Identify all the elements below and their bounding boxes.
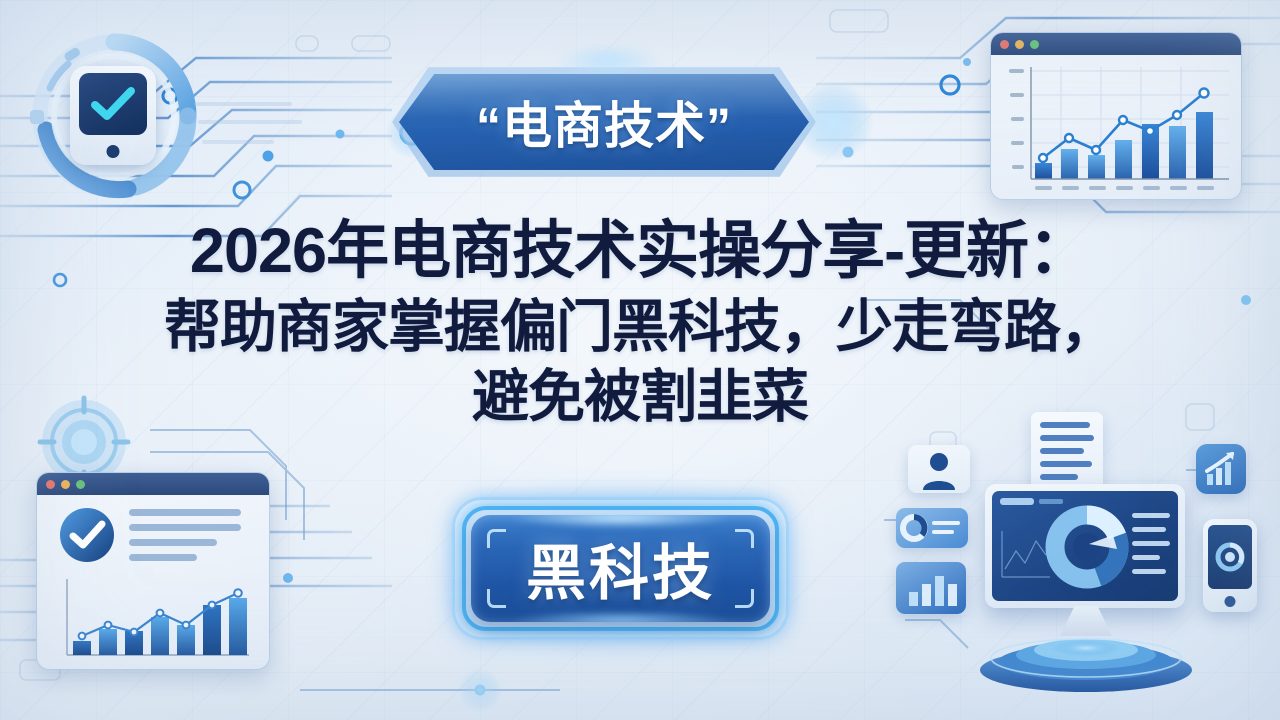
text-line (129, 524, 241, 531)
maximize-dot-icon[interactable] (1030, 40, 1039, 49)
headline-line-2: 帮助商家掌握偏门黑科技，少走弯路， (0, 297, 1280, 357)
pedestal-rings (978, 628, 1194, 692)
analytics-browser-window[interactable] (990, 32, 1242, 200)
doc-line (1040, 461, 1092, 467)
cta-label: 黑科技 (526, 525, 715, 612)
checkmark-circle-icon (57, 505, 117, 565)
corner-bracket-icon (735, 589, 754, 608)
window-titlebar (991, 33, 1241, 55)
desktop-monitor[interactable] (985, 484, 1185, 608)
top-hex-badge[interactable]: “电商技术” (399, 74, 809, 170)
tablet-device (70, 66, 156, 165)
user-avatar-icon (908, 445, 970, 493)
phone-home-button (1225, 596, 1236, 607)
banner-canvas: “电商技术” 2026年电商技术实操分享-更新： 帮助商家掌握偏门黑科技，少走弯… (0, 0, 1280, 720)
bar-chart-icon (896, 562, 966, 614)
growth-badge-icon (1196, 444, 1246, 494)
minimize-dot-icon[interactable] (1015, 40, 1024, 49)
text-line (129, 554, 197, 561)
report-text-lines (129, 509, 245, 561)
close-dot-icon[interactable] (1000, 40, 1009, 49)
person-icon (908, 445, 970, 493)
badge-top-glow (556, 44, 660, 78)
verified-report-window[interactable] (36, 472, 270, 670)
device-screen (79, 73, 147, 135)
donut-stat-card-icon (896, 508, 968, 548)
bar-stat-card-icon (896, 562, 966, 614)
chart-bar-line (991, 55, 1241, 199)
corner-bracket-icon (487, 529, 506, 548)
chart-bar-line (51, 573, 259, 665)
device-check-ring (24, 26, 204, 206)
headline-line-1: 2026年电商技术实操分享-更新： (0, 218, 1280, 285)
device-home-button (107, 145, 120, 158)
monitor-screen (992, 491, 1178, 601)
doc-line (1040, 474, 1078, 480)
doc-line (1040, 422, 1090, 428)
doc-line (1040, 435, 1094, 441)
corner-bracket-icon (487, 589, 506, 608)
headline-block: 2026年电商技术实操分享-更新： 帮助商家掌握偏门黑科技，少走弯路， 避免被割… (0, 218, 1280, 428)
donut-chart-icon (1213, 540, 1247, 574)
dashboard-donut-chart (992, 491, 1178, 601)
doc-line (1040, 448, 1084, 454)
glowing-pedestal (978, 628, 1194, 692)
cta-body[interactable]: 黑科技 (471, 515, 770, 622)
badge-label: “电商技术” (476, 86, 732, 158)
text-line (129, 509, 241, 516)
checkmark-icon (91, 87, 135, 121)
donut-chart-icon (896, 508, 968, 548)
corner-bracket-icon (735, 529, 754, 548)
window-titlebar (37, 473, 269, 495)
text-line (129, 539, 217, 546)
close-dot-icon[interactable] (46, 480, 55, 489)
maximize-dot-icon[interactable] (76, 480, 85, 489)
minimize-dot-icon[interactable] (61, 480, 70, 489)
bottom-cta-button[interactable]: 黑科技 (452, 497, 789, 640)
smartphone[interactable] (1203, 519, 1257, 612)
phone-screen (1208, 525, 1252, 589)
trending-up-icon (1196, 444, 1246, 494)
